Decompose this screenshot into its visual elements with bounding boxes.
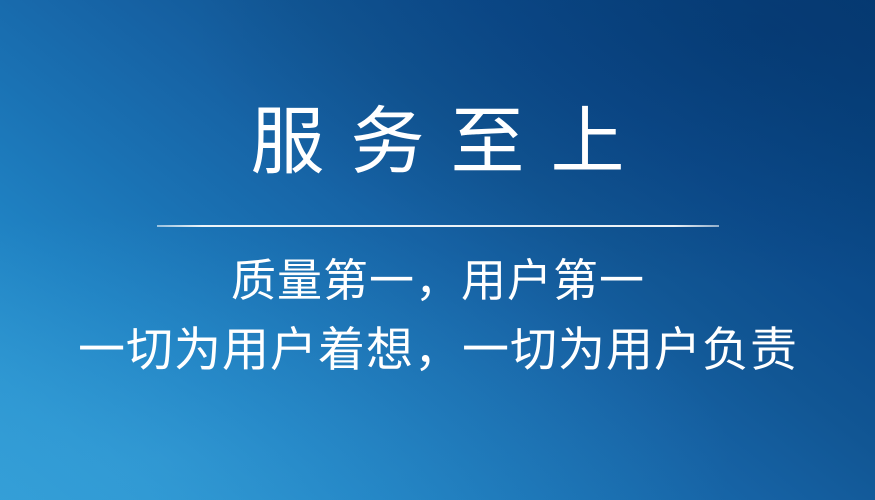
horizontal-rule-divider [157, 225, 719, 227]
banner-subtitle-block: 质量第一，用户第一 一切为用户着想，一切为用户负责 [0, 252, 875, 382]
banner-subtitle-line-2: 一切为用户着想，一切为用户负责 [0, 320, 875, 382]
service-slogan-banner: 服务至上 质量第一，用户第一 一切为用户着想，一切为用户负责 [0, 0, 875, 500]
banner-content: 服务至上 质量第一，用户第一 一切为用户着想，一切为用户负责 [0, 0, 875, 500]
divider-container [0, 225, 875, 227]
banner-subtitle-line-1: 质量第一，用户第一 [0, 252, 875, 310]
banner-headline: 服务至上 [0, 97, 875, 187]
